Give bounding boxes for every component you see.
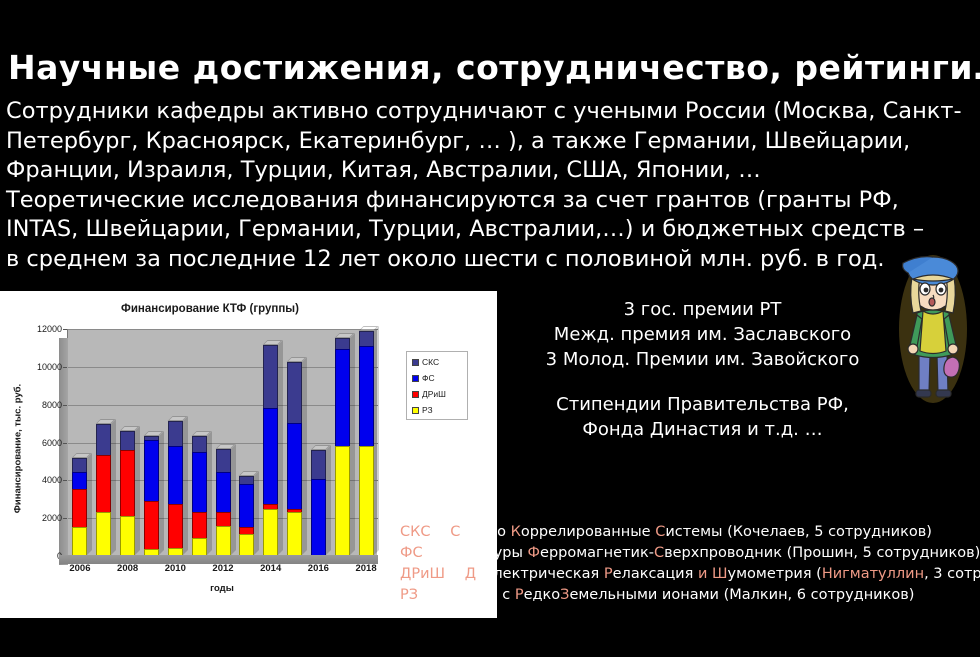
y-axis-tick-mark [63, 443, 67, 444]
bar-segment-fs [335, 349, 350, 446]
legend-text-fragment: ерромагнетик- [540, 545, 654, 561]
bar-side-face [111, 419, 116, 555]
bar-segment-fs [263, 408, 278, 504]
legend-text-fragment: ильно [460, 524, 510, 540]
y-axis-tick-mark [63, 329, 67, 330]
bar-segment-rz [287, 512, 302, 555]
legend-text-fragment: истемы (Кочелаев, 5 сотрудников) [665, 524, 932, 540]
bar-segment-sks [287, 362, 302, 423]
bar-segment-fs [216, 472, 231, 512]
group-legend-line-3: РЗ - системы с РедкоЗемельными ионами (М… [400, 585, 980, 606]
legend-text-fragment: умометрия ( [728, 566, 822, 582]
bar-segment-fs [359, 346, 374, 446]
legend-text-fragment: Д [465, 566, 476, 582]
bar-segment-drish [72, 489, 87, 527]
bar-segment-sks [168, 421, 183, 446]
legend-text-fragment: РЗ [400, 587, 418, 603]
award-line-top-2: 3 Молод. Премии им. Завойского [505, 347, 900, 372]
y-axis-tick-label: 8000 [42, 400, 62, 410]
chart-bar[interactable] [287, 362, 302, 555]
legend-text-fragment: С [655, 524, 665, 540]
cartoon-child-icon [893, 247, 973, 407]
bar-segment-rz [144, 549, 159, 555]
group-legend-line-1: ФС -- структуры Ферромагнетик-Сверхпрово… [400, 543, 980, 564]
legend-text-fragment: ФС [400, 545, 423, 561]
bar-segment-sks [263, 345, 278, 408]
chart-legend-item-РЗ[interactable]: РЗ [412, 405, 462, 415]
legend-text-fragment: Нигматуллин [822, 566, 924, 582]
y-axis-tick-mark [63, 480, 67, 481]
slide-body-text: Сотрудники кафедры активно сотрудничают … [6, 97, 956, 274]
x-axis-tick-label: 2008 [117, 563, 138, 574]
chart-gridline [68, 367, 378, 368]
bar-segment-drish [263, 504, 278, 509]
y-axis-tick-label: 12000 [37, 324, 62, 334]
legend-text-fragment: С [654, 545, 664, 561]
y-axis-tick-label: 4000 [42, 475, 62, 485]
legend-text-fragment: елаксация [613, 566, 698, 582]
bar-side-face [254, 471, 259, 555]
legend-color-swatch [412, 391, 419, 398]
bar-segment-rz [120, 516, 135, 555]
y-axis-tick-mark [63, 405, 67, 406]
bar-segment-sks [311, 450, 326, 479]
y-axis-tick-label: 6000 [42, 438, 62, 448]
legend-text-fragment: , 3 сотрудника [924, 566, 980, 582]
bar-side-face [135, 426, 140, 555]
bar-segment-rz [168, 548, 183, 555]
legend-text-fragment: емельными ионами (Малкин, 6 сотрудников) [569, 587, 914, 603]
chart-title: Финансирование КТФ (группы) [0, 303, 420, 315]
legend-text-fragment: иэлектрическая [476, 566, 604, 582]
legend-item-label: СКС [422, 357, 439, 367]
legend-text-fragment: и [698, 566, 707, 582]
chart-legend-item-ФС[interactable]: ФС [412, 373, 462, 383]
legend-item-label: РЗ [422, 405, 433, 415]
bar-side-face [302, 357, 307, 555]
legend-item-label: ФС [422, 373, 435, 383]
y-axis-tick-mark [63, 556, 67, 557]
award-line-top-1: Межд. премия им. Заславского [505, 322, 900, 347]
bar-segment-fs [239, 484, 254, 527]
bar-side-face [159, 431, 164, 555]
bar-side-face [326, 445, 331, 555]
chart-y-axis-label: Финансирование, тыс. руб. [13, 379, 24, 519]
chart-bar[interactable] [263, 345, 278, 555]
bar-segment-drish [192, 512, 207, 538]
legend-text-fragment: - системы с [418, 587, 515, 603]
bar-segment-fs [287, 423, 302, 509]
award-line-top-0: 3 гос. премии РТ [505, 297, 900, 322]
legend-text-fragment: -- структуры [423, 545, 528, 561]
chart-bar[interactable] [239, 476, 254, 555]
group-abbreviation-legend: СКС -- Сильно Коррелированные Системы (К… [400, 522, 980, 606]
bar-side-face [278, 340, 283, 555]
bar-segment-sks [96, 424, 111, 454]
chart-plot-area: 0200040006000800010000120002006200820102… [67, 329, 377, 556]
chart-legend: СКСФСДРиШРЗ [406, 351, 468, 420]
x-axis-tick-label: 2014 [260, 563, 281, 574]
y-axis-tick-label: 2000 [42, 513, 62, 523]
legend-text-fragment: едко [524, 587, 561, 603]
legend-text-fragment: Р [604, 566, 613, 582]
bar-segment-fs [72, 472, 87, 489]
bar-segment-drish [144, 501, 159, 549]
y-axis-tick-label: 10000 [37, 362, 62, 372]
legend-text-fragment: Ш [712, 566, 728, 582]
chart-legend-item-СКС[interactable]: СКС [412, 357, 462, 367]
bar-side-face [374, 326, 379, 555]
body-line-5: в среднем за последние 12 лет около шест… [6, 245, 956, 275]
legend-text-fragment: Р [515, 587, 524, 603]
legend-color-swatch [412, 375, 419, 382]
bar-segment-rz [192, 538, 207, 555]
chart-bar[interactable] [359, 331, 374, 555]
bar-side-face [350, 333, 355, 555]
chart-bar[interactable] [96, 424, 111, 555]
body-line-0: Сотрудники кафедры активно сотрудничают … [6, 97, 956, 127]
x-axis-tick-label: 2010 [165, 563, 186, 574]
bar-segment-rz [72, 527, 87, 555]
bar-segment-sks [359, 331, 374, 346]
chart-bar[interactable] [335, 338, 350, 555]
x-axis-tick-label: 2018 [355, 563, 376, 574]
legend-text-fragment: СКС [400, 524, 431, 540]
bar-side-face [183, 416, 188, 555]
x-axis-tick-label: 2006 [69, 563, 90, 574]
bar-segment-fs [168, 446, 183, 505]
bar-segment-drish [168, 504, 183, 548]
bar-segment-fs [144, 440, 159, 501]
bar-segment-drish [287, 509, 302, 513]
bar-segment-sks [120, 431, 135, 450]
bar-segment-drish [239, 527, 254, 535]
body-line-3: Теоретические исследования финансируются… [6, 186, 956, 216]
body-line-1: Петербург, Красноярск, Екатеринбург, … )… [6, 127, 956, 157]
legend-text-fragment: -- [445, 566, 465, 582]
bar-segment-sks [239, 476, 254, 485]
chart-gridline [68, 405, 378, 406]
chart-gridline [68, 329, 378, 330]
chart-bar[interactable] [216, 449, 231, 555]
slide-title: Научные достижения, сотрудничество, рейт… [8, 48, 972, 87]
body-line-2: Франции, Израиля, Турции, Китая, Австрал… [6, 156, 956, 186]
bar-segment-rz [216, 526, 231, 555]
award-line-bottom-0: Стипендии Правительства РФ, [505, 392, 900, 417]
group-legend-line-0: СКС -- Сильно Коррелированные Системы (К… [400, 522, 980, 543]
bar-segment-rz [263, 509, 278, 555]
bar-segment-drish [216, 512, 231, 526]
legend-text-fragment: оррелированные [521, 524, 655, 540]
awards-text-block: 3 гос. премии РТМежд. премия им. Заславс… [505, 297, 900, 442]
bar-side-face [87, 453, 92, 555]
group-legend-line-2: ДРиШ -- Диэлектрическая Релаксация и Шум… [400, 564, 980, 585]
award-line-bottom-1: Фонда Династия и т.д. … [505, 417, 900, 442]
bar-segment-sks [72, 458, 87, 472]
chart-bar[interactable] [120, 431, 135, 555]
bar-segment-sks [192, 436, 207, 452]
x-axis-tick-label: 2016 [308, 563, 329, 574]
bar-segment-rz [239, 534, 254, 555]
chart-x-axis-label: годы [67, 583, 377, 594]
legend-text-fragment: С [450, 524, 460, 540]
legend-text-fragment: Ф [528, 545, 540, 561]
chart-legend-item-ДРиШ[interactable]: ДРиШ [412, 389, 462, 399]
bar-side-face [231, 444, 236, 555]
y-axis-tick-mark [63, 367, 67, 368]
legend-text-fragment: -- [431, 524, 451, 540]
chart-bar[interactable] [144, 436, 159, 555]
bar-segment-drish [96, 455, 111, 513]
bar-segment-rz [335, 446, 350, 555]
presentation-slide: Научные достижения, сотрудничество, рейт… [0, 0, 980, 657]
bar-segment-rz [359, 446, 374, 555]
chart-bar[interactable] [168, 421, 183, 555]
legend-color-swatch [412, 407, 419, 414]
bar-segment-sks [216, 449, 231, 472]
chart-bar[interactable] [192, 436, 207, 555]
legend-text-fragment: К [511, 524, 521, 540]
bar-segment-sks [335, 338, 350, 348]
chart-bar[interactable] [72, 458, 87, 555]
bar-segment-fs [192, 452, 207, 512]
legend-text-fragment: верхпроводник (Прошин, 5 сотрудников) [664, 545, 980, 561]
legend-item-label: ДРиШ [422, 389, 446, 399]
legend-color-swatch [412, 359, 419, 366]
chart-bar[interactable] [311, 450, 326, 555]
bar-segment-fs [311, 479, 326, 555]
bar-segment-drish [120, 450, 135, 516]
legend-text-fragment: ДРиШ [400, 566, 445, 582]
body-line-4: INTAS, Швейцарии, Германии, Турции, Авст… [6, 215, 956, 245]
bar-side-face [207, 431, 212, 555]
bar-segment-sks [144, 436, 159, 440]
x-axis-tick-label: 2012 [212, 563, 233, 574]
bar-segment-rz [96, 512, 111, 555]
awards-spacer [505, 372, 900, 392]
y-axis-tick-mark [63, 518, 67, 519]
y-axis-tick-label: 0 [57, 551, 62, 561]
